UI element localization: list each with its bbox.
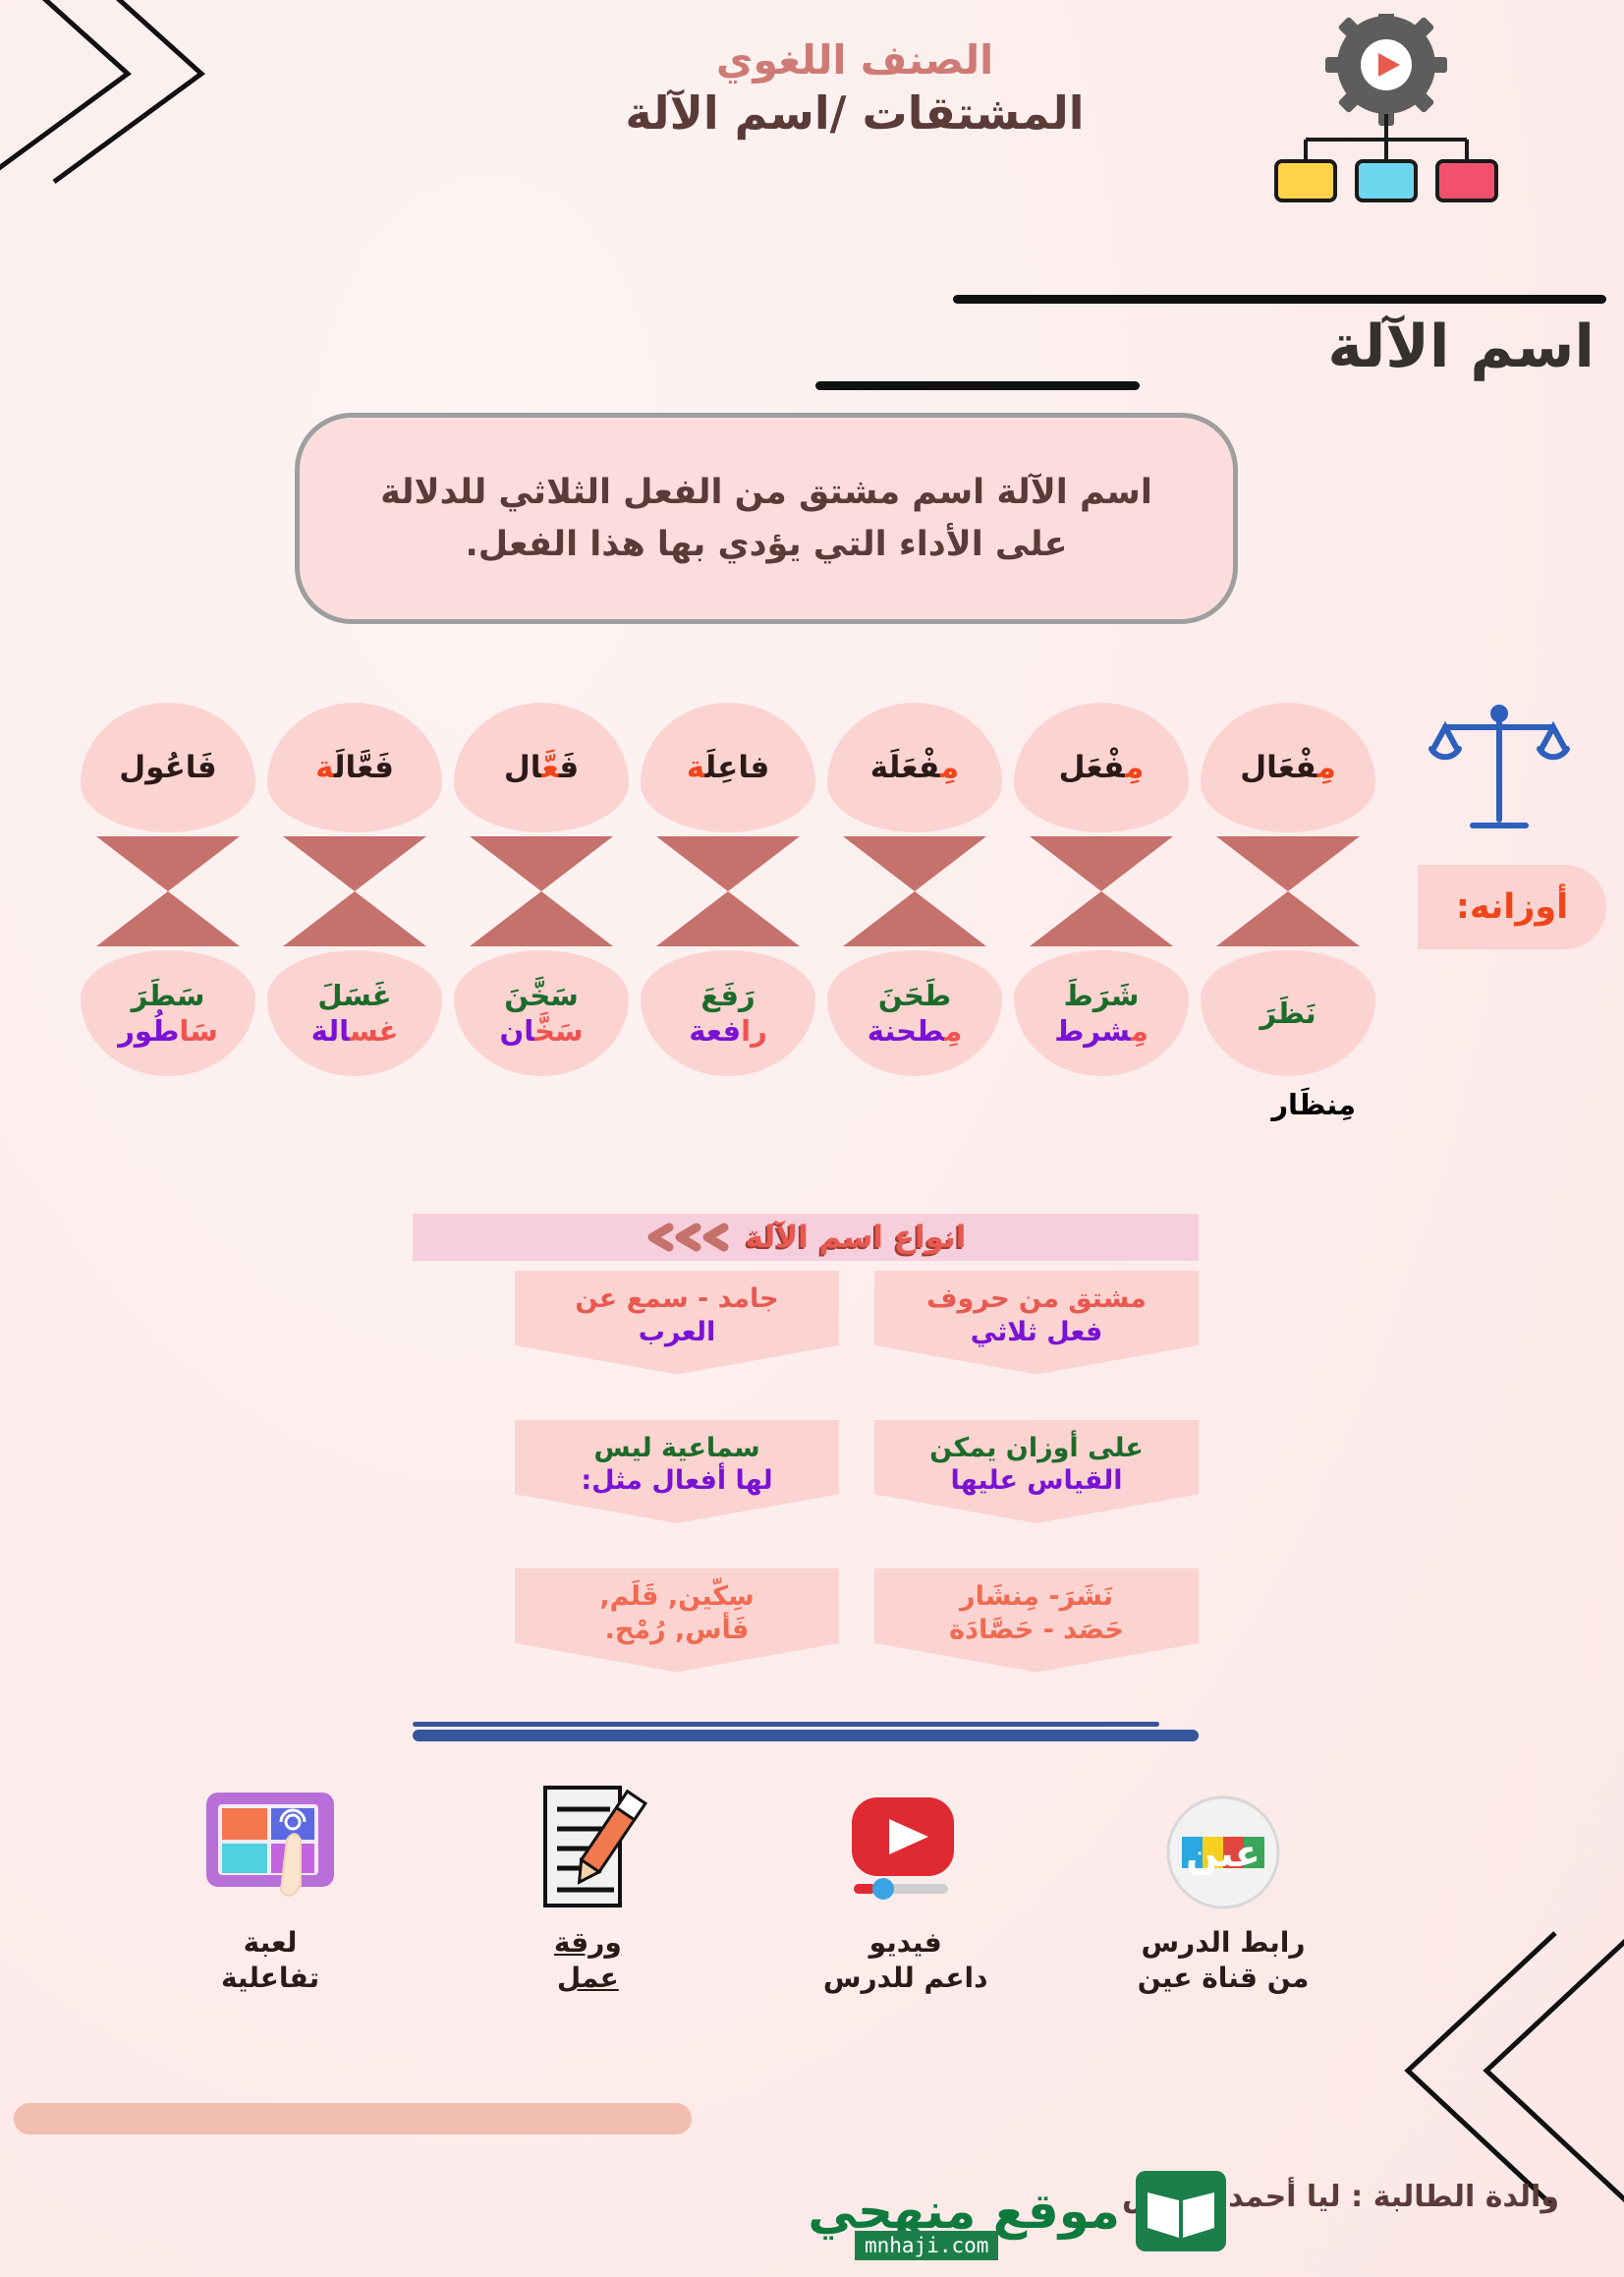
chevron-decoration-bottom-right [1310,1923,1624,2218]
flow-box-line: نَشَرَ- مِنشَار [960,1580,1113,1614]
pattern-text: فاعِلَة [687,750,770,785]
flow-box-line: حَصَد - حَصَّادَة [949,1614,1124,1647]
flow-box-line: القياس عليها [950,1464,1122,1498]
pattern-bubble: فاعِلَة [641,703,815,832]
example-bubble: نَظَرَ [1201,950,1375,1076]
page-title: المشتقات /اسم الآلة [550,85,1159,142]
flow-box: سِكّين, قَلَم,فَأس, رُمْح. [515,1568,839,1673]
flow-box-line: فعل ثلاثي [971,1316,1103,1349]
resource-item[interactable]: فيديوداعم للدرس [783,1784,1029,1997]
flow-box: على أوزان يمكنالقياس عليها [874,1420,1199,1524]
example-bubble: غَسَلَغسالة [267,950,442,1076]
definition-text: اسم الآلة اسم مشتق من الفعل الثلاثي للدل… [341,467,1192,570]
page-header: الصنف اللغوي المشتقات /اسم الآلة [0,14,1624,210]
svg-text:عين: عين [1186,1832,1260,1875]
resource-label: لعبةتفاعلية [147,1925,393,1997]
pattern-bubble: مِفْعَل [1014,703,1189,832]
flow-box: جامد - سمع عنالعرب [515,1271,839,1375]
brand-url: mnhaji.com [855,2231,998,2260]
example-bubble: طَحَنَمِطحنة [827,950,1002,1076]
pattern-bubble: فَاعُول [81,703,255,832]
pattern-bubble: فَعَّال [454,703,629,832]
flow-box: نَشَرَ- مِنشَارحَصَد - حَصَّادَة [874,1568,1199,1673]
footer-accent-bar [14,2103,692,2135]
example-noun: غسالة [311,1014,399,1048]
worksheet-pencil-icon[interactable] [465,1784,710,1911]
pattern-text: فَعَّالَة [315,750,394,785]
hourglass-connector-icon [1201,832,1375,950]
resource-label: رابط الدرسمن قناة عين [1100,1925,1346,1997]
section-title: اسم الآلة [1327,313,1595,381]
example-verb: سَخَّنَ [504,979,579,1012]
pattern-bubble: فَعَّالَة [267,703,442,832]
divider-line-top [953,295,1606,304]
hourglass-connector-icon [454,832,629,950]
resources-row: عينرابط الدرسمن قناة عينفيديوداعم للدرسو… [147,1784,1346,1997]
awzan-label-badge: أوزانه: [1418,865,1606,949]
example-extra-noun: مِنظَار [1271,1088,1356,1121]
flow-arrow-down-icon [1007,1381,1066,1414]
infographic-page: الصنف اللغوي المشتقات /اسم الآلة [0,0,1624,2277]
example-bubble: سَخَّنَسَخَّان [454,950,629,1076]
example-noun: مِشرط [1054,1014,1148,1048]
flow-box-line: جامد - سمع عن [575,1282,778,1316]
example-verb: سَطَرَ [132,979,205,1012]
types-columns: مشتق من حروففعل ثلاثيعلى أوزان يمكنالقيا… [413,1271,1199,1718]
pattern-bubble: مِفْعَال [1201,703,1375,832]
ein-channel-logo-icon[interactable]: عين [1100,1784,1346,1911]
example-noun: مِطحنة [868,1014,963,1048]
flow-box-line: على أوزان يمكن [929,1432,1144,1465]
flow-box-line: مشتق من حروف [926,1282,1147,1316]
interactive-game-tablet-icon[interactable] [147,1784,393,1911]
flow-arrow-down-icon [1007,1529,1066,1563]
example-bubble: شَرَطَمِشرط [1014,950,1189,1076]
hourglass-connector-icon [81,832,255,950]
pattern-text: مِفْعَال [1240,750,1336,785]
example-verb: نَظَرَ [1260,996,1316,1030]
types-column-rigid: جامد - سمع عنالعربسماعية ليسلها أفعال مث… [515,1271,839,1718]
flow-arrow-down-icon [647,1529,706,1563]
pattern-column: مِفْعَلَةطَحَنَمِطحنة [827,703,1002,1076]
triple-chevron-left-icon [645,1223,730,1252]
youtube-play-icon[interactable] [783,1784,1029,1911]
resource-label: ورقةعمل [465,1925,710,1997]
example-noun: سَخَّان [499,1014,583,1048]
pattern-column: مِفْعَلشَرَطَمِشرط [1014,703,1189,1076]
flow-box-line: العرب [639,1316,716,1349]
pattern-column: فَاعُولسَطَرَسَاطُور [81,703,255,1076]
types-title-bar: انواع اسم الآلة [413,1214,1199,1261]
resource-label: فيديوداعم للدرس [783,1925,1029,1997]
flow-box-line: فَأس, رُمْح. [605,1614,750,1647]
open-book-icon [1134,2169,1228,2253]
example-verb: رَفَعَ [700,979,756,1012]
resource-item[interactable]: عينرابط الدرسمن قناة عين [1100,1784,1346,1997]
example-noun: سَاطُور [118,1014,218,1048]
types-column-derived: مشتق من حروففعل ثلاثيعلى أوزان يمكنالقيا… [874,1271,1199,1718]
hourglass-connector-icon [1014,832,1189,950]
example-verb: طَحَنَ [878,979,951,1012]
pattern-column: فاعِلَةرَفَعَرافعة [641,703,815,1076]
pattern-text: فَعَّال [504,750,579,785]
types-title-text: انواع اسم الآلة [746,1220,967,1255]
awzan-label-text: أوزانه: [1456,887,1568,927]
patterns-row: مِفْعَالنَظَرَمِنظَارمِفْعَلشَرَطَمِشرطم… [39,703,1375,1115]
types-section: انواع اسم الآلة مشتق من حروففعل ثلاثيعلى… [413,1214,1199,1718]
pattern-text: مِفْعَل [1059,750,1145,785]
hourglass-connector-icon [267,832,442,950]
pattern-text: مِفْعَلَة [870,750,959,785]
example-bubble: رَفَعَرافعة [641,950,815,1076]
brand-block: موقع منهجي mnhaji.com [678,2162,1228,2260]
blue-divider [413,1730,1199,1741]
pattern-column: فَعَّالسَخَّنَسَخَّان [454,703,629,1076]
flow-box-line: لها أفعال مثل: [581,1464,772,1498]
gear-play-orgchart-icon [1270,14,1506,210]
flow-box: سماعية ليسلها أفعال مثل: [515,1420,839,1524]
hourglass-connector-icon [641,832,815,950]
hourglass-connector-icon [827,832,1002,950]
resource-item[interactable]: لعبةتفاعلية [147,1784,393,1997]
pattern-column: مِفْعَالنَظَرَ [1201,703,1375,1076]
example-verb: شَرَطَ [1064,979,1140,1012]
flow-box: مشتق من حروففعل ثلاثي [874,1271,1199,1375]
definition-card: اسم الآلة اسم مشتق من الفعل الثلاثي للدل… [295,413,1238,624]
pattern-column: فَعَّالَةغَسَلَغسالة [267,703,442,1076]
page-subtitle: الصنف اللغوي [550,35,1159,85]
flow-arrow-down-icon [647,1381,706,1414]
title-block: الصنف اللغوي المشتقات /اسم الآلة [550,35,1159,142]
example-verb: غَسَلَ [317,979,391,1012]
pattern-text: فَاعُول [119,750,216,785]
example-noun: رافعة [689,1014,767,1048]
divider-line-under-title [815,381,1140,390]
flow-box-line: سِكّين, قَلَم, [599,1580,754,1614]
resource-item[interactable]: ورقةعمل [465,1784,710,1997]
example-bubble: سَطَرَسَاطُور [81,950,255,1076]
flow-box-line: سماعية ليس [593,1432,759,1465]
pattern-bubble: مِفْعَلَة [827,703,1002,832]
balance-scale-icon [1426,698,1573,845]
